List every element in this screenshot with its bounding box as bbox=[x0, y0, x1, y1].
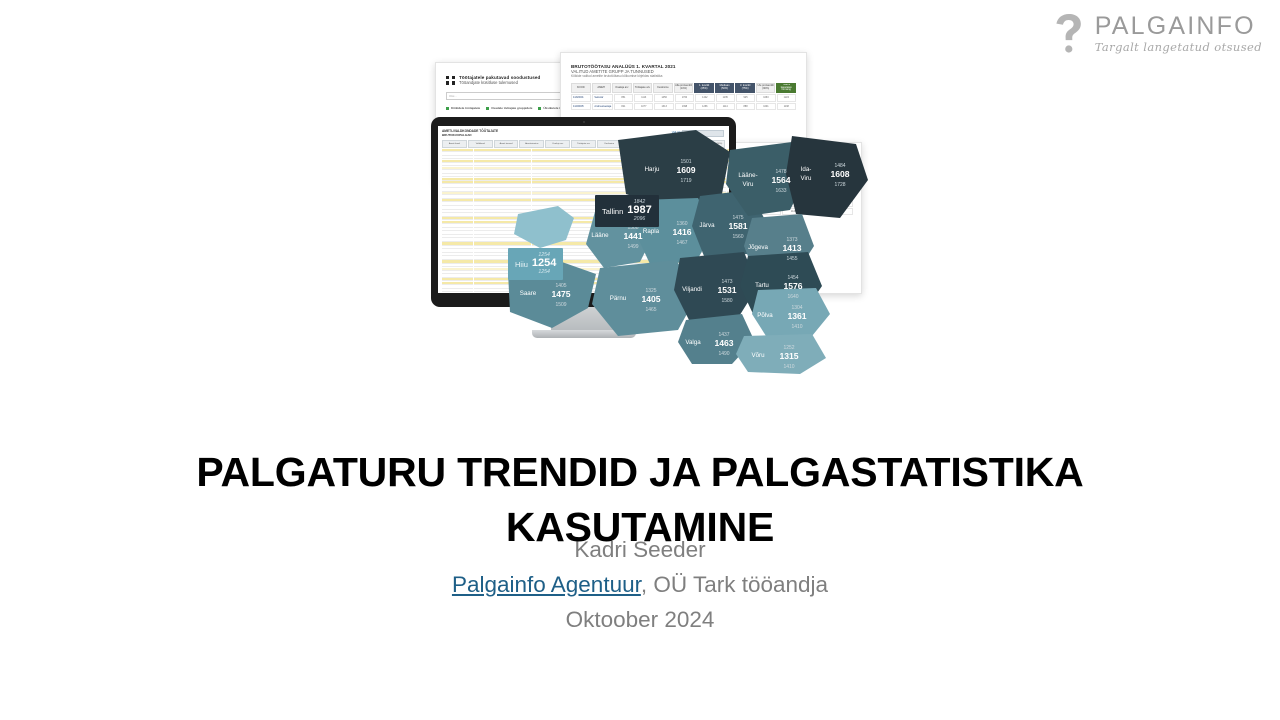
spreadsheet-cell bbox=[442, 289, 473, 292]
svg-text:Järva: Järva bbox=[699, 222, 715, 229]
svg-text:1564: 1564 bbox=[771, 175, 790, 185]
svg-text:1315: 1315 bbox=[779, 351, 798, 361]
svg-text:1463: 1463 bbox=[714, 338, 733, 348]
svg-text:1728: 1728 bbox=[834, 182, 845, 188]
svg-text:1633: 1633 bbox=[775, 188, 786, 194]
svg-text:1509: 1509 bbox=[555, 302, 566, 308]
legend-item: Kõikidele töötajatele bbox=[446, 106, 480, 110]
svg-text:Ida-: Ida- bbox=[801, 166, 812, 173]
svg-text:Tartu: Tartu bbox=[755, 282, 769, 289]
question-mark-icon bbox=[1051, 12, 1087, 56]
svg-text:Pärnu: Pärnu bbox=[610, 295, 627, 302]
callout-upper-tallinn: 2096 bbox=[634, 217, 646, 222]
svg-text:1490: 1490 bbox=[718, 351, 729, 357]
palgainfo-logo: PALGAINFO Targalt langetatud otsused bbox=[1051, 12, 1262, 56]
palgainfo-agentuur-link[interactable]: Palgainfo Agentuur bbox=[452, 572, 641, 597]
filter-cell[interactable]: Ameti kood bbox=[442, 140, 467, 148]
logo-wordmark: PALGAINFO bbox=[1095, 14, 1262, 39]
svg-text:Põlva: Põlva bbox=[757, 312, 773, 319]
svg-text:1531: 1531 bbox=[717, 285, 736, 295]
hero-graphic: Töötajatele pakutavad soodustused Tööand… bbox=[415, 52, 875, 377]
table-row: 41200005 Andmesisestaja 821 1077 1313 13… bbox=[571, 103, 796, 111]
analysis-table-header: KOOD AMETI Osaleja arv Töötajate arv Kes… bbox=[571, 83, 796, 93]
callout-tallinn: Tallinn 1842 1987 2096 bbox=[595, 195, 659, 227]
svg-text:1441: 1441 bbox=[623, 231, 642, 241]
svg-text:1455: 1455 bbox=[786, 256, 797, 262]
svg-text:Saare: Saare bbox=[520, 290, 537, 297]
callout-name-tallinn: Tallinn bbox=[602, 207, 623, 216]
svg-text:Lääne: Lääne bbox=[591, 232, 609, 239]
svg-text:1576: 1576 bbox=[783, 281, 802, 291]
svg-text:1640: 1640 bbox=[787, 294, 798, 300]
gift-icon bbox=[446, 76, 455, 85]
svg-text:Harju: Harju bbox=[645, 166, 660, 173]
slide: PALGAINFO Targalt langetatud otsused Töö… bbox=[0, 0, 1280, 720]
svg-text:1361: 1361 bbox=[787, 311, 806, 321]
estonia-salary-map: Harju1501 16091719 Lääne1388 14411499 Ra… bbox=[500, 122, 875, 377]
svg-text:Valga: Valga bbox=[685, 339, 701, 346]
svg-text:1609: 1609 bbox=[676, 165, 695, 175]
subtitle-block: Kadri Seeder Palgainfo Agentuur, OÜ Tark… bbox=[90, 533, 1190, 638]
svg-text:1608: 1608 bbox=[830, 169, 849, 179]
svg-text:1475: 1475 bbox=[551, 289, 570, 299]
svg-text:Jõgeva: Jõgeva bbox=[748, 244, 769, 251]
svg-text:Võru: Võru bbox=[751, 352, 765, 359]
svg-text:Viru: Viru bbox=[743, 181, 754, 188]
svg-text:1467: 1467 bbox=[676, 240, 687, 246]
legend-item: Osadele töötajate gruppidele bbox=[486, 106, 532, 110]
svg-text:Rapla: Rapla bbox=[643, 228, 660, 235]
region-hiiu bbox=[514, 206, 574, 248]
svg-text:Viru: Viru bbox=[801, 175, 812, 182]
svg-text:1405: 1405 bbox=[641, 294, 660, 304]
filter-cell[interactable]: Valdkond bbox=[468, 140, 493, 148]
benefits-subtitle: Tööandjate küsitluse tulemused bbox=[459, 80, 540, 85]
region-ida-viru bbox=[786, 136, 868, 218]
svg-text:1719: 1719 bbox=[680, 178, 691, 184]
logo-tagline: Targalt langetatud otsused bbox=[1095, 42, 1262, 54]
svg-text:1581: 1581 bbox=[728, 221, 747, 231]
svg-text:Viljandi: Viljandi bbox=[682, 286, 702, 293]
presentation-date: Oktoober 2024 bbox=[90, 603, 1190, 638]
analysis-note: Kõikide valitud ametite brutotöötasu kõi… bbox=[571, 74, 796, 78]
svg-text:1560: 1560 bbox=[732, 234, 743, 240]
callout-name-hiiu: Hiiu bbox=[515, 260, 528, 269]
callout-upper-hiiu: 1254 bbox=[538, 270, 550, 275]
svg-text:1416: 1416 bbox=[672, 227, 691, 237]
svg-text:1413: 1413 bbox=[782, 243, 801, 253]
svg-text:1410: 1410 bbox=[783, 364, 794, 370]
svg-text:Lääne-: Lääne- bbox=[738, 172, 757, 179]
svg-text:1499: 1499 bbox=[627, 244, 638, 250]
svg-text:1465: 1465 bbox=[645, 307, 656, 313]
svg-text:1410: 1410 bbox=[791, 324, 802, 330]
table-row: 41320001 Sekretär 851 1113 1456 1700 144… bbox=[571, 94, 796, 102]
callout-hiiu: Hiiu 1254 1254 1254 bbox=[508, 248, 563, 280]
organisation-rest: , OÜ Tark tööandja bbox=[641, 572, 828, 597]
svg-text:1580: 1580 bbox=[721, 298, 732, 304]
organisation-line: Palgainfo Agentuur, OÜ Tark tööandja bbox=[90, 568, 1190, 603]
author-name: Kadri Seeder bbox=[90, 533, 1190, 568]
